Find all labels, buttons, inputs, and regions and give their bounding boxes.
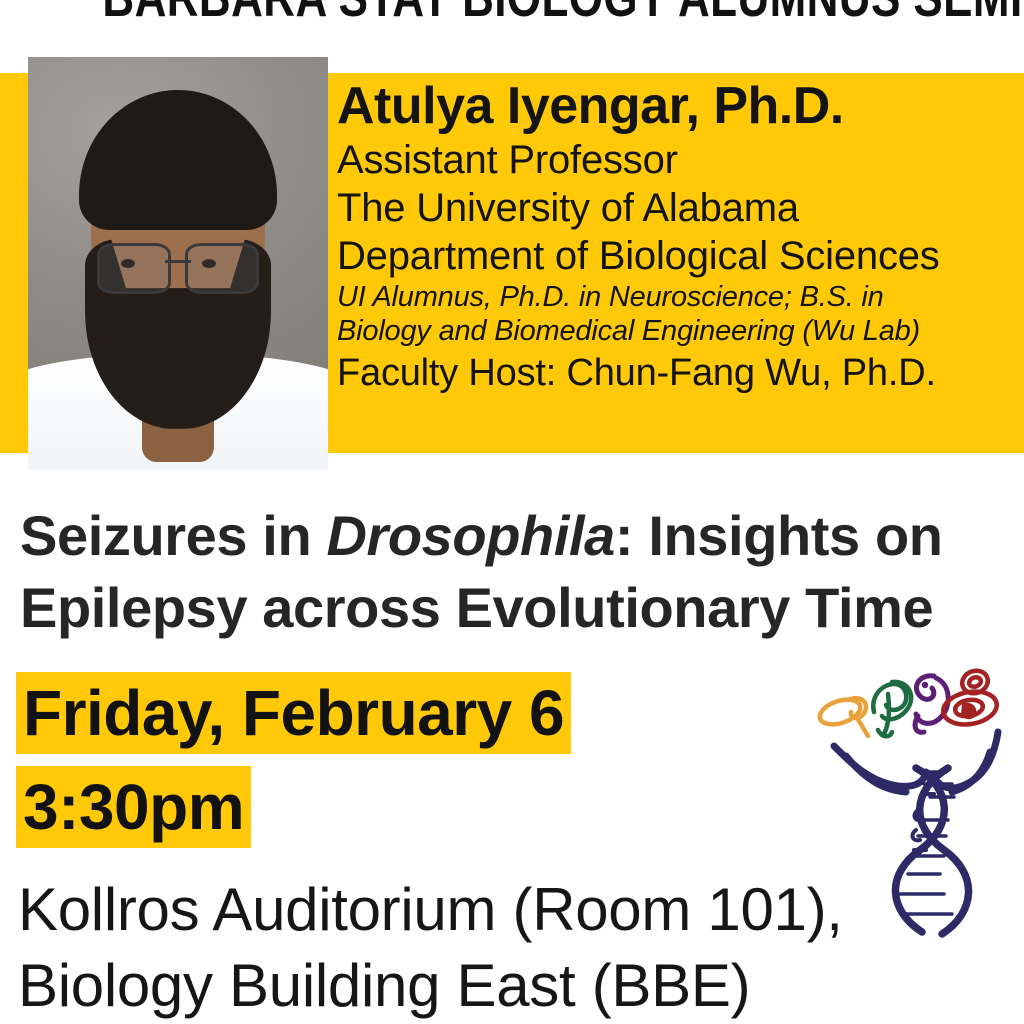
speaker-rank: Assistant Professor	[337, 136, 1017, 184]
speaker-credentials-line-2: Biology and Biomedical Engineering (Wu L…	[337, 314, 1017, 348]
event-date-row: Friday, February 6	[21, 672, 721, 754]
event-datetime-block: Friday, February 6 3:30pm	[21, 672, 721, 860]
speaker-credentials-line-1: UI Alumnus, Ph.D. in Neuroscience; B.S. …	[337, 280, 1017, 314]
event-date: Friday, February 6	[21, 677, 566, 749]
seminar-series-title: BARBARA STAY BIOLOGY ALUMNUS SEMINAR	[102, 0, 921, 26]
photo-eyeglasses	[97, 243, 259, 288]
juggled-organism-orange	[817, 695, 868, 736]
juggled-organism-red	[941, 667, 1000, 728]
speaker-headshot-photo	[28, 57, 328, 470]
venue-line-2: Biology Building East (BBE)	[18, 948, 918, 1024]
eyeglass-bridge	[165, 260, 191, 263]
header-banner: BARBARA STAY BIOLOGY ALUMNUS SEMINAR	[0, 0, 1024, 30]
event-time-row: 3:30pm	[21, 766, 721, 848]
speaker-department: Department of Biological Sciences	[337, 232, 1017, 280]
event-time: 3:30pm	[21, 771, 246, 843]
juggled-organism-green	[873, 682, 911, 736]
dna-juggler-logo-graphic	[812, 660, 1017, 960]
faculty-host: Faculty Host: Chun-Fang Wu, Ph.D.	[337, 350, 1017, 396]
talk-title-species: Drosophila	[326, 504, 614, 567]
talk-title-line-2: Epilepsy across Evolutionary Time	[20, 572, 995, 644]
talk-title: Seizures in Drosophila: Insights on Epil…	[20, 500, 995, 644]
seminar-poster: BARBARA STAY BIOLOGY ALUMNUS SEMINAR Atu…	[0, 0, 1024, 1024]
eyeglass-lens-left	[97, 243, 171, 294]
event-venue-block: Kollros Auditorium (Room 101), Biology B…	[18, 872, 918, 1024]
speaker-institution: The University of Alabama	[337, 184, 1017, 232]
eyeglass-lens-right	[185, 243, 259, 294]
speaker-name: Atulya Iyengar, Ph.D.	[337, 78, 1017, 134]
juggler-arms	[834, 732, 998, 792]
speaker-info-block: Atulya Iyengar, Ph.D. Assistant Professo…	[337, 78, 1017, 396]
talk-title-part-2: : Insights on	[615, 504, 943, 567]
venue-line-1: Kollros Auditorium (Room 101),	[18, 872, 918, 948]
talk-title-part-1: Seizures in	[20, 504, 326, 567]
dna-juggler-logo	[812, 660, 1017, 960]
